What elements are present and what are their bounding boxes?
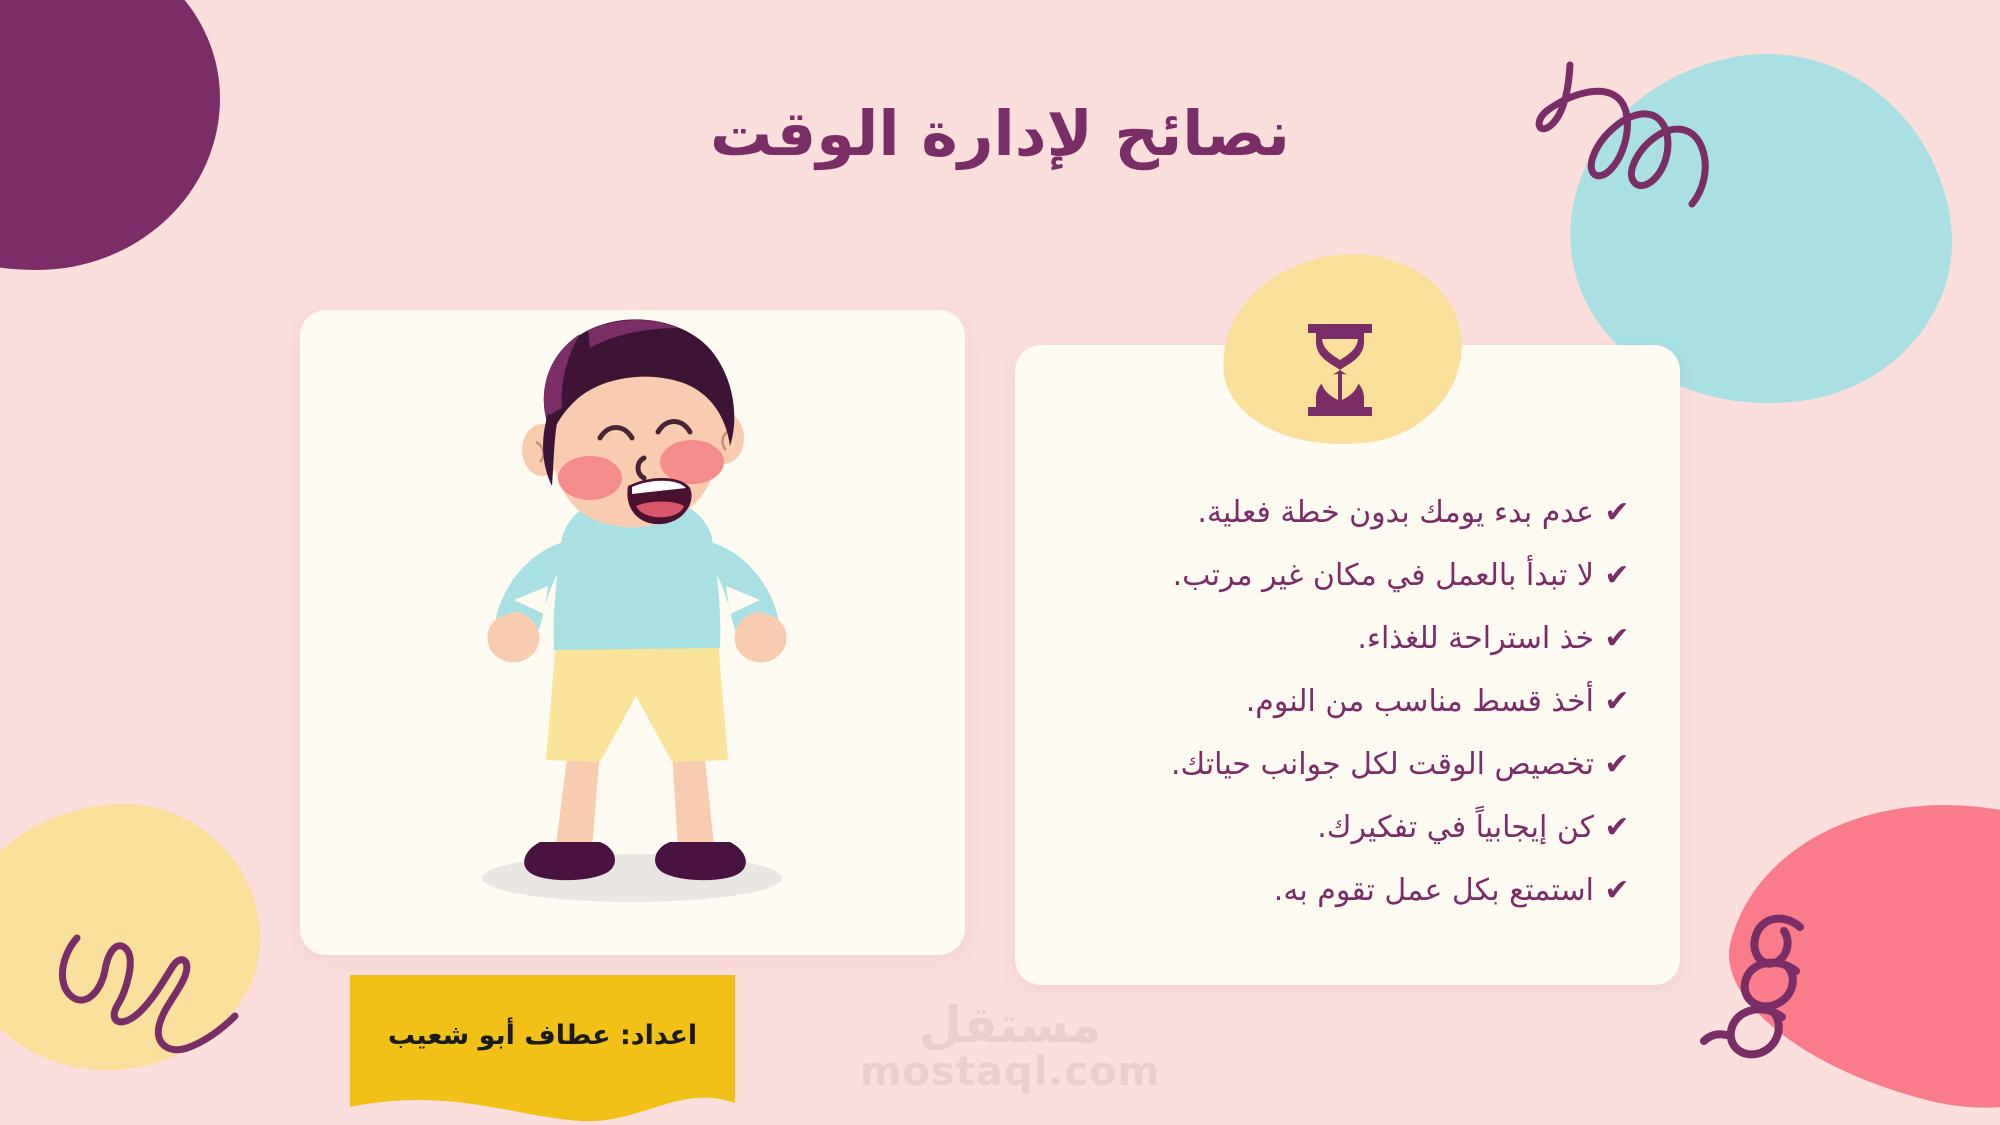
decorative-squiggle-icon [1700, 905, 1860, 1085]
check-icon: ✔ [1594, 813, 1640, 843]
list-item[interactable]: ✔ عدم بدء يومك بدون خطة فعلية. [1060, 495, 1640, 558]
list-item[interactable]: ✔ تخصيص الوقت لكل جوانب حياتك. [1060, 747, 1640, 810]
check-icon: ✔ [1594, 687, 1640, 717]
check-icon: ✔ [1594, 750, 1640, 780]
list-item[interactable]: ✔ استمتع بكل عمل تقوم به. [1060, 873, 1640, 936]
list-item[interactable]: ✔ لا تبدأ بالعمل في مكان غير مرتب. [1060, 558, 1640, 621]
list-item-label: استمتع بكل عمل تقوم به. [1060, 873, 1594, 908]
mostaql-watermark: مستقل mostaql.com [855, 1000, 1165, 1094]
watermark-latin-text: mostaql.com [855, 1050, 1165, 1094]
hourglass-icon [1300, 320, 1380, 420]
smiling-boy-illustration [300, 310, 965, 955]
tips-list: ✔ عدم بدء يومك بدون خطة فعلية. ✔ لا تبدأ… [1060, 495, 1640, 936]
decorative-squiggle-icon [55, 930, 265, 1075]
slide-canvas: نصائح لإدارة الوقت [0, 0, 2000, 1125]
check-icon: ✔ [1594, 876, 1640, 906]
watermark-arabic-text: مستقل [855, 1000, 1165, 1050]
check-icon: ✔ [1594, 561, 1640, 591]
list-item-label: لا تبدأ بالعمل في مكان غير مرتب. [1060, 558, 1594, 593]
list-item-label: عدم بدء يومك بدون خطة فعلية. [1060, 495, 1594, 530]
author-credit: اعداد: عطاف أبو شعيب [350, 1020, 735, 1051]
list-item[interactable]: ✔ خذ استراحة للغذاء. [1060, 621, 1640, 684]
list-item[interactable]: ✔ كن إيجابياً في تفكيرك. [1060, 810, 1640, 873]
page-title: نصائح لإدارة الوقت [0, 100, 2000, 168]
list-item-label: خذ استراحة للغذاء. [1060, 621, 1594, 656]
list-item-label: أخذ قسط مناسب من النوم. [1060, 684, 1594, 719]
check-icon: ✔ [1594, 498, 1640, 528]
list-item-label: كن إيجابياً في تفكيرك. [1060, 810, 1594, 845]
check-icon: ✔ [1594, 624, 1640, 654]
list-item-label: تخصيص الوقت لكل جوانب حياتك. [1060, 747, 1594, 782]
illustration-card [300, 310, 965, 955]
list-item[interactable]: ✔ أخذ قسط مناسب من النوم. [1060, 684, 1640, 747]
